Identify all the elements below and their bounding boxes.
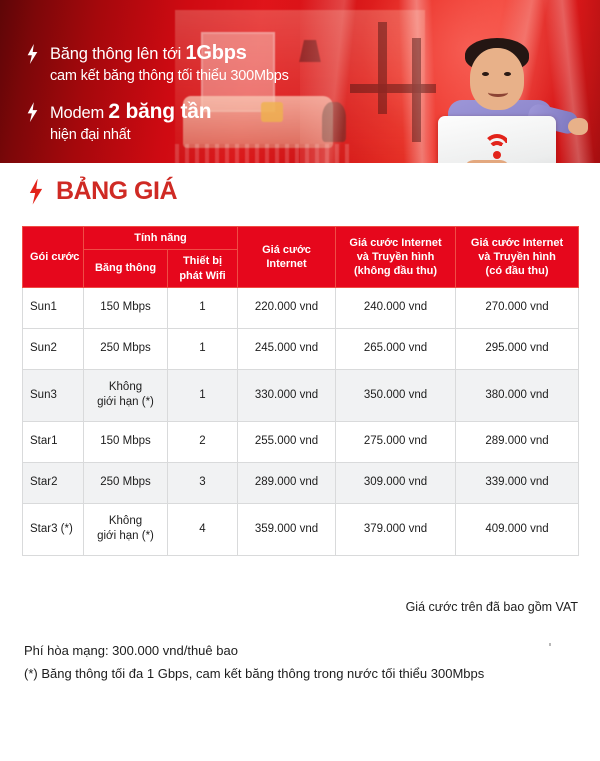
column-header-features-group: Tính năng <box>84 227 238 250</box>
column-header-tv-no-box-line2: và Truyền hình <box>339 250 452 264</box>
person-smile <box>488 88 508 97</box>
cell-tv-no-box: 309.000 vnd <box>336 462 456 503</box>
cell-package: Star1 <box>23 421 84 462</box>
wifi-dot <box>493 151 501 159</box>
cell-bandwidth: 150 Mbps <box>84 421 168 462</box>
footer-note-installation-fee: Phí hòa mạng: 300.000 vnd/thuê bao <box>24 640 484 663</box>
cell-bandwidth-line2: giới hạn (*) <box>87 529 164 545</box>
column-header-package: Gói cước <box>23 227 84 288</box>
section-title: BẢNG GIÁ <box>29 177 177 206</box>
cell-tv-with-box: 339.000 vnd <box>456 462 579 503</box>
column-header-tv-no-box: Giá cước Internet và Truyền hình (không … <box>336 227 456 288</box>
table-row: Star2 250 Mbps 3 289.000 vnd 309.000 vnd… <box>23 462 579 503</box>
cell-internet-price: 359.000 vnd <box>238 503 336 555</box>
table-row: Star1 150 Mbps 2 255.000 vnd 275.000 vnd… <box>23 421 579 462</box>
cell-package: Star3 (*) <box>23 503 84 555</box>
table-row: Sun3 Không giới hạn (*) 1 330.000 vnd 35… <box>23 369 579 421</box>
banner-bullet-1: Băng thông lên tới 1Gbps cam kết băng th… <box>27 41 289 85</box>
column-header-internet-price-line1: Giá cước <box>241 243 332 257</box>
table-body: Sun1 150 Mbps 1 220.000 vnd 240.000 vnd … <box>23 287 579 555</box>
cell-internet-price: 245.000 vnd <box>238 328 336 369</box>
cell-internet-price: 330.000 vnd <box>238 369 336 421</box>
column-header-wifi-device-line1: Thiết bị <box>171 254 234 268</box>
four-stroke-horizontal <box>350 84 436 93</box>
column-header-tv-with-box-line1: Giá cước Internet <box>459 236 575 250</box>
cell-tv-with-box: 270.000 vnd <box>456 287 579 328</box>
banner-bullet-1-line1: Băng thông lên tới 1Gbps <box>50 41 289 67</box>
cell-tv-no-box: 265.000 vnd <box>336 328 456 369</box>
footer-note-bandwidth-asterisk: (*) Băng thông tối đa 1 Gbps, cam kết bă… <box>24 663 484 686</box>
table-row: Sun2 250 Mbps 1 245.000 vnd 265.000 vnd … <box>23 328 579 369</box>
column-header-tv-with-box-line2: và Truyền hình <box>459 250 575 264</box>
person-with-laptop <box>432 30 582 163</box>
column-header-internet-price: Giá cước Internet <box>238 227 336 288</box>
cell-wifi-devices: 1 <box>168 369 238 421</box>
cell-tv-with-box: 295.000 vnd <box>456 328 579 369</box>
cell-package: Sun3 <box>23 369 84 421</box>
vat-note: Giá cước trên đã bao gồm VAT <box>406 600 578 614</box>
cell-bandwidth: Không giới hạn (*) <box>84 369 168 421</box>
four-stroke-vertical-right <box>412 38 421 142</box>
four-stroke-vertical <box>378 22 387 114</box>
wifi-icon <box>482 134 512 160</box>
column-header-tv-no-box-line1: Giá cước Internet <box>339 236 452 250</box>
number-four-graphic <box>350 22 440 142</box>
banner-copy: Băng thông lên tới 1Gbps cam kết băng th… <box>27 41 289 159</box>
cell-package: Sun2 <box>23 328 84 369</box>
banner-bullet-2-highlight: 2 băng tần <box>108 100 211 123</box>
cell-package: Star2 <box>23 462 84 503</box>
cell-bandwidth: Không giới hạn (*) <box>84 503 168 555</box>
laptop <box>438 116 556 163</box>
cell-wifi-devices: 1 <box>168 287 238 328</box>
cell-tv-no-box: 275.000 vnd <box>336 421 456 462</box>
cell-bandwidth-line2: giới hạn (*) <box>87 395 164 411</box>
lightning-bolt-icon <box>29 179 43 205</box>
cell-tv-with-box: 380.000 vnd <box>456 369 579 421</box>
cell-bandwidth: 250 Mbps <box>84 462 168 503</box>
cell-tv-no-box: 240.000 vnd <box>336 287 456 328</box>
cell-tv-with-box: 289.000 vnd <box>456 421 579 462</box>
person-head <box>470 48 524 110</box>
banner-bullet-1-line2: cam kết băng thông tối thiểu 300Mbps <box>50 67 289 86</box>
cell-wifi-devices: 3 <box>168 462 238 503</box>
cell-internet-price: 220.000 vnd <box>238 287 336 328</box>
cell-wifi-devices: 1 <box>168 328 238 369</box>
banner-bullet-2-line2: hiện đại nhất <box>50 126 211 145</box>
stray-artifact <box>549 643 551 646</box>
cell-bandwidth: 250 Mbps <box>84 328 168 369</box>
cell-bandwidth-line1: Không <box>87 380 164 396</box>
column-header-wifi-device: Thiết bị phát Wifi <box>168 250 238 288</box>
banner-bullet-2-line1-pre: Modem <box>50 104 108 122</box>
person-holding-hand <box>464 160 510 163</box>
column-header-bandwidth: Băng thông <box>84 250 168 288</box>
cell-bandwidth-line1: Không <box>87 514 164 530</box>
cell-wifi-devices: 2 <box>168 421 238 462</box>
lightning-bolt-icon <box>27 44 38 64</box>
table-header-row-1: Gói cước Tính năng Giá cước Internet Giá… <box>23 227 579 250</box>
column-header-tv-with-box: Giá cước Internet và Truyền hình (có đầu… <box>456 227 579 288</box>
cell-internet-price: 289.000 vnd <box>238 462 336 503</box>
person-eye-right <box>504 72 511 76</box>
table-row: Star3 (*) Không giới hạn (*) 4 359.000 v… <box>23 503 579 555</box>
person-eye-left <box>482 72 489 76</box>
column-header-tv-with-box-line3: (có đầu thu) <box>459 264 575 278</box>
cell-tv-no-box: 350.000 vnd <box>336 369 456 421</box>
cell-bandwidth: 150 Mbps <box>84 287 168 328</box>
table-row: Sun1 150 Mbps 1 220.000 vnd 240.000 vnd … <box>23 287 579 328</box>
banner-bullet-2: Modem 2 băng tần hiện đại nhất <box>27 99 289 144</box>
person-pointing-hand <box>568 118 588 135</box>
banner-bullet-1-highlight: 1Gbps <box>185 42 246 64</box>
cell-package: Sun1 <box>23 287 84 328</box>
column-header-wifi-device-line2: phát Wifi <box>171 269 234 283</box>
footer-notes: Phí hòa mạng: 300.000 vnd/thuê bao (*) B… <box>24 640 484 686</box>
column-header-internet-price-line2: Internet <box>241 257 332 271</box>
lightning-bolt-icon <box>27 102 38 122</box>
banner-bullet-2-line1: Modem 2 băng tần <box>50 99 211 126</box>
cell-internet-price: 255.000 vnd <box>238 421 336 462</box>
table-header: Gói cước Tính năng Giá cước Internet Giá… <box>23 227 579 288</box>
column-header-tv-no-box-line3: (không đầu thu) <box>339 264 452 278</box>
banner-bullet-1-text: Băng thông lên tới 1Gbps cam kết băng th… <box>50 41 289 85</box>
cell-tv-no-box: 379.000 vnd <box>336 503 456 555</box>
price-table: Gói cước Tính năng Giá cước Internet Giá… <box>22 226 579 556</box>
page-title: BẢNG GIÁ <box>56 177 177 206</box>
cell-tv-with-box: 409.000 vnd <box>456 503 579 555</box>
banner-bullet-1-line1-pre: Băng thông lên tới <box>50 45 185 63</box>
banner-bullet-2-text: Modem 2 băng tần hiện đại nhất <box>50 99 211 144</box>
promo-banner: Băng thông lên tới 1Gbps cam kết băng th… <box>0 0 600 163</box>
cell-wifi-devices: 4 <box>168 503 238 555</box>
